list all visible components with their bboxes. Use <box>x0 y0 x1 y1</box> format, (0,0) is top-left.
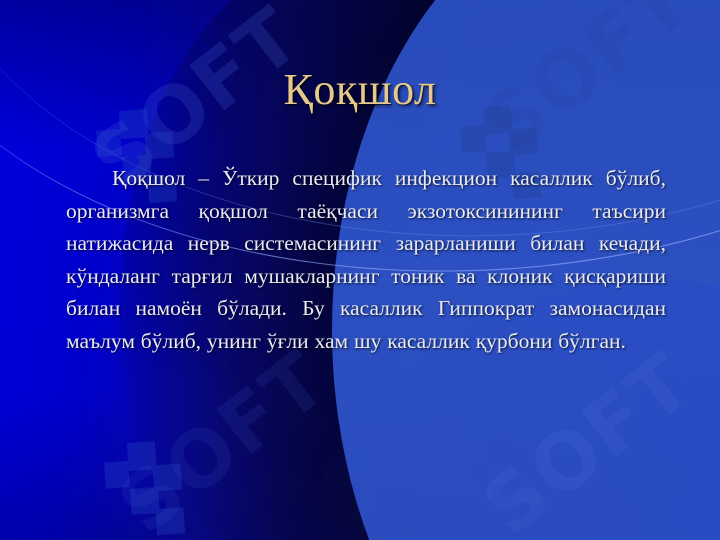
presentation-slide: SOFT SOFT SOFT SOFT Қоқшол Қоқшол – Ўтки… <box>0 0 720 540</box>
slide-title: Қоқшол <box>0 66 720 114</box>
slide-body-paragraph: Қоқшол – Ўткир специфик инфекцион касалл… <box>66 162 666 357</box>
slide-body-text: Қоқшол – Ўткир специфик инфекцион касалл… <box>66 162 666 357</box>
